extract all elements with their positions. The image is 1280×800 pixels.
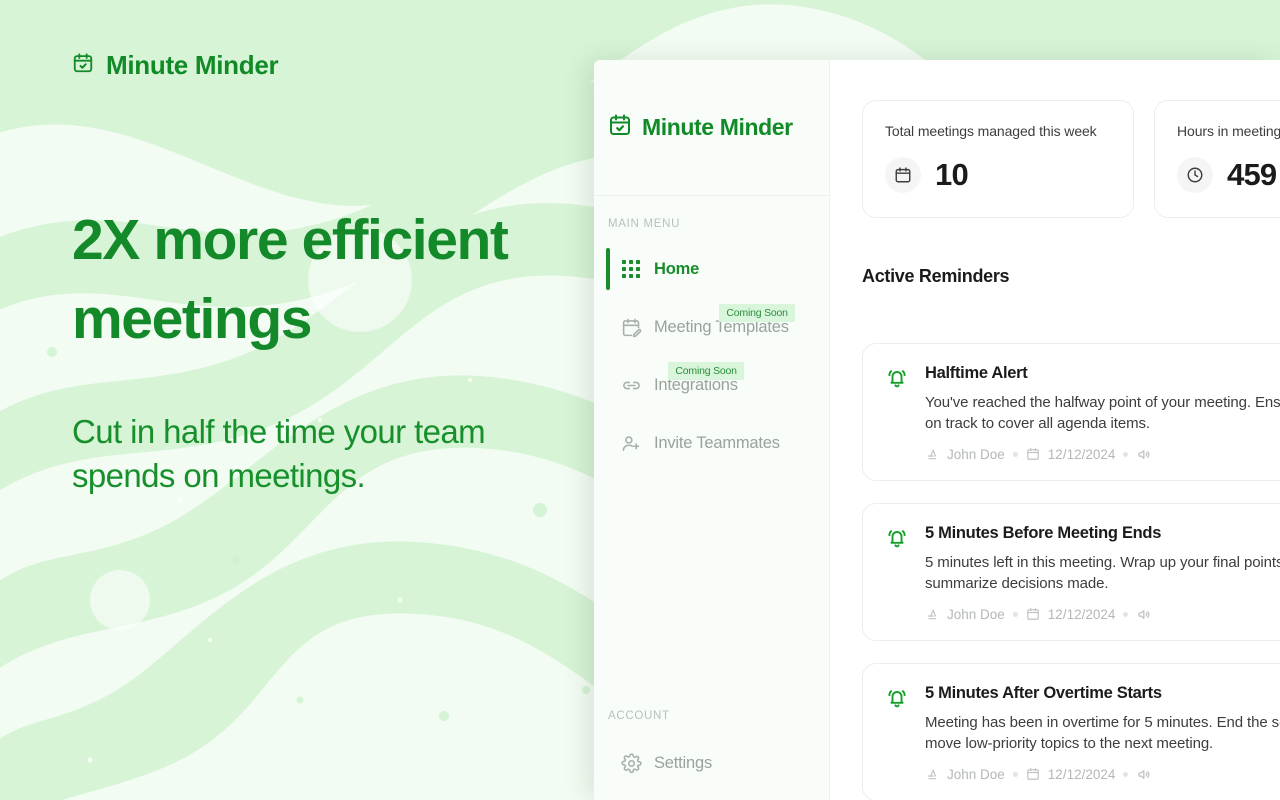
- reminder-date: 12/12/2024: [1048, 607, 1116, 622]
- bell-ring-icon: [885, 366, 909, 462]
- stat-label: Hours in meetings: [1177, 123, 1280, 139]
- hero-subtitle: Cut in half the time your team spends on…: [72, 410, 542, 497]
- sidebar-item-meeting-templates[interactable]: Meeting Templates Coming Soon: [594, 298, 829, 356]
- hero-title: 2X more efficient meetings: [72, 201, 572, 358]
- main-content: Total meetings managed this week 10 Hour…: [830, 60, 1280, 800]
- gear-icon: [620, 752, 642, 774]
- sidebar-item-settings[interactable]: Settings: [594, 734, 829, 792]
- coming-soon-badge: Coming Soon: [719, 304, 794, 322]
- hero-content: Minute Minder 2X more efficient meetings…: [0, 0, 620, 800]
- sidebar-logo-text: Minute Minder: [642, 114, 793, 141]
- meta-separator-dot: [1123, 452, 1128, 457]
- app-window: Minute Minder MAIN MENU Home: [594, 60, 1280, 800]
- reminder-card[interactable]: 5 Minutes Before Meeting Ends 5 minutes …: [862, 503, 1280, 641]
- reminder-author: John Doe: [947, 607, 1005, 622]
- sidebar-item-home[interactable]: Home: [594, 240, 829, 298]
- reminder-date: 12/12/2024: [1048, 447, 1116, 462]
- hero-brand-name: Minute Minder: [106, 50, 278, 81]
- text-format-icon: [925, 767, 939, 781]
- text-format-icon: [925, 447, 939, 461]
- sidebar-logo[interactable]: Minute Minder: [594, 60, 829, 196]
- volume-icon[interactable]: [1136, 607, 1151, 622]
- sidebar-item-invite-teammates[interactable]: Invite Teammates: [594, 414, 829, 472]
- meta-separator-dot: [1123, 612, 1128, 617]
- coming-soon-badge: Coming Soon: [668, 362, 743, 380]
- link-icon: [620, 374, 642, 396]
- sidebar-item-label: Invite Teammates: [654, 434, 780, 453]
- calendar-edit-icon: [620, 316, 642, 338]
- reminder-title: Halftime Alert: [925, 364, 1280, 383]
- reminder-body: Halftime Alert You've reached the halfwa…: [925, 364, 1280, 462]
- sidebar-item-label-wrap: Integrations Coming Soon: [654, 376, 738, 395]
- calendar-icon: [1026, 767, 1040, 781]
- reminder-card[interactable]: 5 Minutes After Overtime Starts Meeting …: [862, 663, 1280, 800]
- sidebar-item-integrations[interactable]: Integrations Coming Soon: [594, 356, 829, 414]
- stat-value: 459: [1227, 157, 1276, 193]
- reminder-date: 12/12/2024: [1048, 767, 1116, 782]
- calendar-icon: [1026, 607, 1040, 621]
- stat-value-row: 459: [1177, 157, 1280, 193]
- calendar-check-icon: [608, 113, 632, 142]
- reminder-card[interactable]: Halftime Alert You've reached the halfwa…: [862, 343, 1280, 481]
- bell-ring-icon: [885, 686, 909, 782]
- sidebar-item-label: Home: [654, 260, 699, 279]
- volume-icon[interactable]: [1136, 767, 1151, 782]
- reminder-body: 5 Minutes Before Meeting Ends 5 minutes …: [925, 524, 1280, 622]
- reminder-description: You've reached the halfway point of your…: [925, 392, 1280, 435]
- meta-separator-dot: [1123, 772, 1128, 777]
- reminders-list: Halftime Alert You've reached the halfwa…: [862, 343, 1280, 800]
- sidebar-item-label: Settings: [654, 754, 712, 773]
- stat-card-total-meetings: Total meetings managed this week 10: [862, 100, 1134, 218]
- calendar-icon: [1026, 447, 1040, 461]
- stat-value-row: 10: [885, 157, 1111, 193]
- active-reminders-title: Active Reminders: [862, 266, 1280, 287]
- meta-separator-dot: [1013, 452, 1018, 457]
- text-format-icon: [925, 607, 939, 621]
- reminder-description: Meeting has been in overtime for 5 minut…: [925, 712, 1280, 755]
- reminder-meta: John Doe 12/12/2024: [925, 447, 1280, 462]
- reminder-meta: John Doe 12/12/2024: [925, 767, 1280, 782]
- stat-card-hours-in-meetings: Hours in meetings 459: [1154, 100, 1280, 218]
- sidebar-main-menu-label: MAIN MENU: [594, 196, 829, 230]
- sidebar-account-label: ACCOUNT: [594, 688, 829, 722]
- sidebar: Minute Minder MAIN MENU Home: [594, 60, 830, 800]
- reminder-title: 5 Minutes After Overtime Starts: [925, 684, 1280, 703]
- bell-ring-icon: [885, 526, 909, 622]
- volume-icon[interactable]: [1136, 447, 1151, 462]
- meta-separator-dot: [1013, 772, 1018, 777]
- stat-label: Total meetings managed this week: [885, 123, 1111, 139]
- meta-separator-dot: [1013, 612, 1018, 617]
- calendar-icon: [885, 157, 921, 193]
- reminder-title: 5 Minutes Before Meeting Ends: [925, 524, 1280, 543]
- reminder-author: John Doe: [947, 767, 1005, 782]
- hero-brand: Minute Minder: [72, 50, 620, 81]
- sidebar-account-section: ACCOUNT Settings: [594, 688, 829, 800]
- stat-value: 10: [935, 157, 968, 193]
- sidebar-main-menu: Home Meeting Templates Coming Soon: [594, 230, 829, 472]
- reminder-meta: John Doe 12/12/2024: [925, 607, 1280, 622]
- sidebar-item-label-wrap: Meeting Templates Coming Soon: [654, 318, 789, 337]
- reminder-author: John Doe: [947, 447, 1005, 462]
- grid-icon: [620, 258, 642, 280]
- reminder-description: 5 minutes left in this meeting. Wrap up …: [925, 552, 1280, 595]
- stats-row: Total meetings managed this week 10 Hour…: [862, 100, 1280, 218]
- clock-icon: [1177, 157, 1213, 193]
- user-plus-icon: [620, 432, 642, 454]
- calendar-check-icon: [72, 52, 94, 79]
- reminder-body: 5 Minutes After Overtime Starts Meeting …: [925, 684, 1280, 782]
